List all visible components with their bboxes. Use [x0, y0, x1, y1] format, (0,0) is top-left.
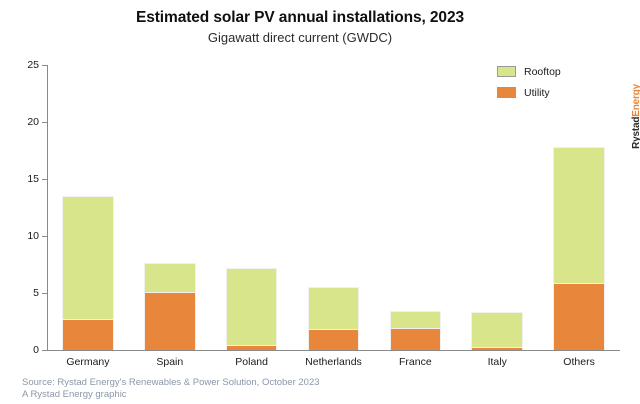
bar-group[interactable]: Germany: [62, 196, 114, 350]
page-title: Estimated solar PV annual installations,…: [0, 8, 600, 28]
legend-swatch-rooftop: [497, 66, 516, 77]
brand-name-primary: Rystad: [631, 117, 640, 149]
legend-item-label: Rooftop: [524, 66, 561, 78]
y-axis-tick-label: 20: [27, 116, 39, 128]
legend-item-label: Utility: [524, 87, 550, 99]
bar-segment-utility[interactable]: [471, 347, 523, 350]
chart-subtitle: Gigawatt direct current (GWDC): [0, 29, 600, 47]
bar-segment-utility[interactable]: [226, 345, 278, 350]
plot-area: 0510152025 GermanySpainPolandNetherlands…: [47, 65, 620, 350]
y-axis-tick-label: 15: [27, 173, 39, 185]
source-note: Source: Rystad Energy's Renewables & Pow…: [22, 377, 522, 389]
bar-segment-rooftop[interactable]: [390, 311, 442, 328]
y-axis-tick-label: 5: [33, 287, 39, 299]
bar-segment-utility[interactable]: [144, 292, 196, 350]
bar-segment-rooftop[interactable]: [144, 263, 196, 292]
legend-item[interactable]: Utility: [497, 84, 607, 101]
bar-group[interactable]: Others: [553, 147, 605, 350]
brand-logo-text: RystadEnergy: [631, 84, 640, 149]
bar-group[interactable]: Poland: [226, 268, 278, 350]
y-axis-tick-label: 25: [27, 59, 39, 71]
bar-segment-rooftop[interactable]: [62, 196, 114, 319]
bar-series-container: GermanySpainPolandNetherlandsFranceItaly…: [47, 65, 620, 350]
credit-note: A Rystad Energy graphic: [22, 389, 522, 401]
y-axis-tick-label: 0: [33, 344, 39, 356]
bar-segment-rooftop[interactable]: [226, 268, 278, 346]
bar-segment-rooftop[interactable]: [471, 312, 523, 346]
chart-figure: Estimated solar PV annual installations,…: [0, 0, 640, 404]
y-axis-tick-label: 10: [27, 230, 39, 242]
bar-group[interactable]: Spain: [144, 263, 196, 350]
x-axis-tick-label: Poland: [235, 356, 268, 368]
x-axis-tick-label: France: [399, 356, 432, 368]
bar-segment-utility[interactable]: [390, 328, 442, 350]
bar-segment-utility[interactable]: [308, 329, 360, 350]
x-axis-tick-label: Spain: [156, 356, 183, 368]
bar-group[interactable]: Italy: [471, 312, 523, 350]
bar-segment-utility[interactable]: [553, 283, 605, 350]
x-axis-tick-label: Germany: [66, 356, 109, 368]
chart-header: Estimated solar PV annual installations,…: [0, 8, 600, 47]
chart-footer: Source: Rystad Energy's Renewables & Pow…: [22, 377, 522, 401]
x-axis-tick-label: Others: [563, 356, 595, 368]
brand-name-secondary: Energy: [631, 84, 640, 117]
bar-group[interactable]: France: [390, 311, 442, 350]
bar-segment-utility[interactable]: [62, 319, 114, 350]
bar-segment-rooftop[interactable]: [553, 147, 605, 283]
x-axis-line: [47, 350, 620, 351]
legend-swatch-utility: [497, 87, 516, 98]
y-axis-tick-mark: [42, 350, 47, 351]
legend-item[interactable]: Rooftop: [497, 63, 607, 80]
chart-legend: RooftopUtility: [497, 63, 607, 105]
bar-group[interactable]: Netherlands: [308, 287, 360, 350]
bar-segment-rooftop[interactable]: [308, 287, 360, 329]
x-axis-tick-label: Italy: [488, 356, 507, 368]
x-axis-tick-label: Netherlands: [305, 356, 362, 368]
